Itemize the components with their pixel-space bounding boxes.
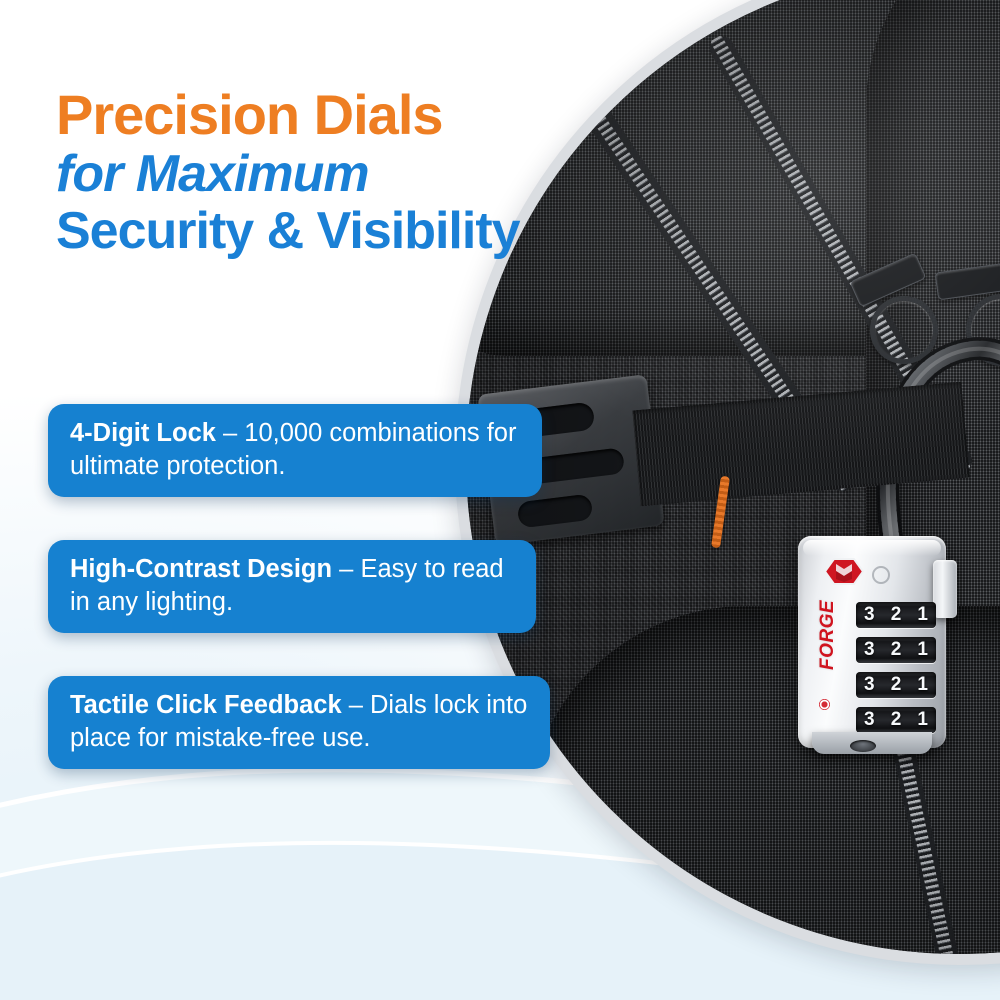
feature-dash: –	[216, 419, 244, 447]
dial-row[interactable]: 3 2 1	[856, 602, 936, 628]
feature-box-high-contrast-design: High-Contrast Design – Easy to read in a…	[48, 540, 536, 633]
headline: Precision Dials for Maximum Security & V…	[56, 86, 656, 258]
dial-digit: 1	[909, 637, 936, 663]
combination-dials: 3 2 1 3 2 1 3 2 1 3	[856, 602, 936, 742]
headline-line-3: Security & Visibility	[56, 204, 656, 258]
headline-line-1: Precision Dials	[56, 86, 656, 144]
feature-dash: –	[342, 691, 370, 719]
feature-dash: –	[332, 555, 360, 583]
padlock-keyhole-icon	[850, 740, 876, 752]
product-feature-graphic: FORGE 3 2 1 3 2 1 3 2	[0, 0, 1000, 1000]
feature-box-4-digit-lock: 4-Digit Lock – 10,000 combinations for u…	[48, 404, 542, 497]
dial-row[interactable]: 3 2 1	[856, 672, 936, 698]
dial-digit: 2	[883, 707, 910, 733]
dial-digit: 2	[883, 672, 910, 698]
padlock-serial-mark	[872, 566, 890, 584]
padlock-side-rail	[933, 560, 957, 618]
brand-label: FORGE	[817, 579, 839, 691]
dial-digit: 1	[909, 672, 936, 698]
tsa-combination-padlock: FORGE 3 2 1 3 2 1 3 2	[798, 536, 946, 761]
headline-line-2: for Maximum	[56, 147, 656, 201]
dial-digit: 2	[883, 602, 910, 628]
dial-row[interactable]: 3 2 1	[856, 707, 936, 733]
feature-box-tactile-click-feedback: Tactile Click Feedback – Dials lock into…	[48, 676, 550, 769]
dial-row[interactable]: 3 2 1	[856, 637, 936, 663]
brand-dot-icon	[819, 699, 830, 710]
dial-digit: 1	[909, 707, 936, 733]
dial-digit: 2	[883, 637, 910, 663]
dial-digit: 3	[856, 637, 883, 663]
dial-digit: 3	[856, 707, 883, 733]
feature-lead: High-Contrast Design	[70, 555, 332, 583]
feature-lead: Tactile Click Feedback	[70, 691, 342, 719]
feature-lead: 4-Digit Lock	[70, 419, 216, 447]
dial-digit: 3	[856, 602, 883, 628]
dial-digit: 1	[909, 602, 936, 628]
padlock-top-bevel	[803, 540, 941, 556]
dial-digit: 3	[856, 672, 883, 698]
